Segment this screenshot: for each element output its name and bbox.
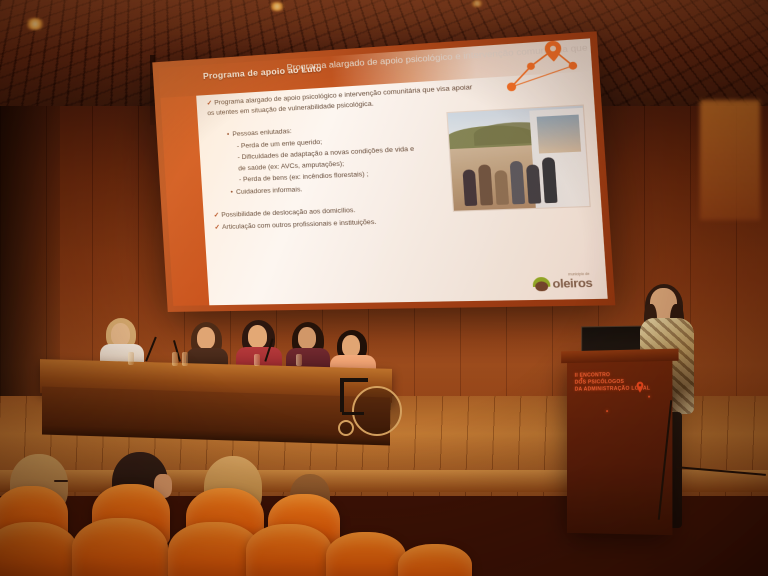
list-item-label: - Perda de um ente querido;: [237, 138, 323, 149]
panelist-head: [298, 327, 316, 349]
photo-people-group: [457, 150, 570, 206]
wheelchair-frame: [342, 412, 364, 415]
water-bottle: [182, 352, 188, 366]
screen-frame: Programa de apoio ao Luto Programa alarg…: [152, 31, 615, 312]
audience-seat[interactable]: [326, 532, 406, 576]
slide-photo: [446, 104, 590, 211]
wheelchair-frame: [342, 378, 368, 382]
audience-area: [0, 452, 768, 576]
side-door-light: [700, 100, 760, 220]
bullet-dot-icon: •: [230, 189, 233, 196]
panelist-head: [197, 327, 215, 349]
wheelchair-wheel: [352, 386, 402, 436]
banner-dot-icon: [606, 410, 608, 412]
photo-person: [494, 170, 509, 205]
oleiros-logo-mark-icon: [532, 276, 550, 290]
water-bottle: [128, 352, 134, 365]
podium-top-surface: [561, 349, 678, 364]
check-icon: ✓: [214, 212, 220, 219]
ceiling-spotlight-icon: [24, 18, 46, 30]
ceiling-spotlight-icon: [470, 0, 484, 7]
projection-screen: Programa de apoio ao Luto Programa alarg…: [152, 31, 615, 312]
logo-blob-shape: [535, 281, 548, 291]
check-icon: ✓: [214, 224, 220, 231]
photo-van-window: [537, 115, 581, 154]
slide-left-band: [159, 66, 210, 306]
photo-person: [510, 161, 525, 205]
ceiling-spotlight-icon: [268, 2, 286, 11]
audience-seat[interactable]: [246, 524, 332, 576]
wheelchair-caster: [338, 420, 354, 436]
eyeglasses-icon: [54, 480, 68, 482]
oleiros-logo: oleiros município de: [532, 273, 593, 294]
water-bottle: [172, 352, 178, 366]
network-nodes-graphic: [495, 37, 589, 99]
photo-person: [526, 164, 541, 203]
list-item-label: Possibilidade de deslocação aos domicíli…: [221, 207, 356, 219]
banner-dot-icon: [648, 396, 650, 398]
photo-person: [542, 157, 558, 203]
list-item-label: Articulação com outros profissionais e i…: [222, 219, 377, 231]
wheelchair-frame: [340, 378, 344, 412]
map-pin-icon: [636, 382, 644, 393]
water-bottle: [296, 354, 302, 366]
panelist-head: [111, 323, 130, 346]
bullet-dot-icon: •: [227, 132, 230, 139]
list-item-label: Cuidadores informais.: [236, 186, 303, 196]
banner-dot-icon: [581, 378, 583, 380]
list-item-label: Pessoas enlutadas:: [232, 128, 292, 138]
photo-person: [463, 169, 478, 206]
wheelchair: [336, 368, 402, 440]
audience-seat[interactable]: [398, 544, 472, 576]
audience-seat[interactable]: [0, 522, 78, 576]
podium-banner: II ENCONTRO DOS PSICÓLOGOS DA ADMINISTRA…: [575, 371, 660, 394]
oleiros-logo-text: oleiros: [552, 277, 593, 291]
oleiros-logo-superscript: município de: [568, 272, 590, 277]
check-icon: ✓: [207, 100, 213, 107]
water-bottle: [254, 354, 260, 366]
audience-seat[interactable]: [72, 518, 168, 576]
panelist-head: [342, 335, 360, 357]
photo-person: [478, 164, 493, 205]
panelist-head: [248, 325, 267, 348]
banner-line-3: DA ADMINISTRAÇÃO LOCAL: [575, 386, 660, 394]
auditorium-photo: Programa de apoio ao Luto Programa alarg…: [0, 0, 768, 576]
